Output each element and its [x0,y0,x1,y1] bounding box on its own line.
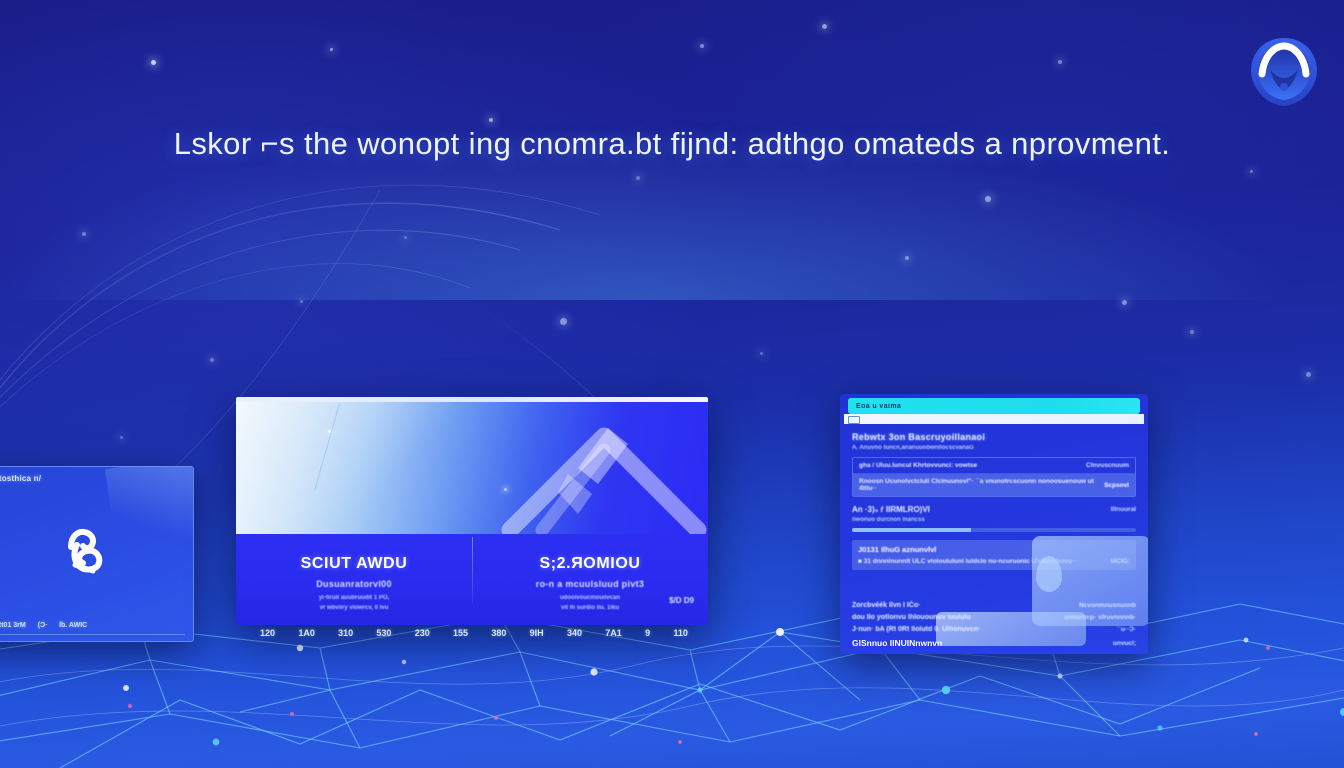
secondary-heading: An ·3)₅ ŕ IIRMLRO)VI [852,505,930,514]
center-window[interactable]: SCIUT AWDU Dusuanratorvl00 yi-firuit auu… [236,397,708,625]
axis-tick: 230 [415,628,430,638]
footer-line-b-left: GlSnnuo IlNUINnwnvn [852,638,942,648]
axis-tick-strip: 120 1A0 310 530 230 155 380 9IH 340 7A1 … [244,622,704,644]
column-1-meta-2: vr wbvilry vlowrcv, 0 lvu [236,604,472,613]
column-2-subheading: ro-n a mcuulsluud pivt3 [472,579,708,589]
footer-row-right: unnurucp· sfruvnnnnb· [1064,614,1136,621]
right-window-title: Eoa u vaima [856,403,901,410]
axis-tick: 530 [376,628,391,638]
axis-tick: 7A1 [605,628,622,638]
footer-text-3: lb. AWIC [59,622,87,629]
hero-graphic-area [236,402,708,534]
center-corner-label: $/D D9 [669,596,694,605]
section-subtitle: A. Anuvno tuncn,ananuuobwnllocscvanaG [852,445,1136,451]
column-1-meta-1: yi-firuit auubruudit 1 PO, [236,594,472,603]
footer-text-2: (Ɔ∙ [38,622,47,629]
table-row[interactable]: Rnoosn Ucunolvctcluli Clcinuunovl"· ˙˙a … [853,474,1135,496]
axis-tick: 120 [260,628,275,638]
axis-tick: 380 [491,628,506,638]
axis-tick: 310 [338,628,353,638]
table-row[interactable]: gha / Uluu.luncul Khrtovvunci: vowtse Cl… [853,458,1135,474]
progress-bar [852,528,1136,532]
footer-line-a-right: ˙˙u··Ɔ· [1117,626,1137,633]
section-title: Rebwtx 3on Bascruyoillanaoi [852,432,1136,442]
left-window[interactable]: Laoutosthica n/ WV/lRt01 3rM (Ɔ∙ lb. AWI… [0,466,194,642]
data-table: gha / Uluu.luncul Khrtovvunci: vowtse Cl… [852,457,1136,497]
right-window-toolbar[interactable] [844,414,1144,424]
footer-row-left: dou Ilo yotlonvu Ihlouounuv luululu [852,614,971,621]
axis-tick: 9IH [530,628,544,638]
left-window-footer: WV/lRt01 3rM (Ɔ∙ lb. AWIC [0,622,183,629]
left-window-title: Laoutosthica n/ [0,474,185,483]
page-headline: Lskor ⌐s the wonopt ing cnomra.bt fijnd:… [0,126,1344,162]
right-window[interactable]: Eoa u vaima Rebwtx 3on Bascruyoillanaoi … [840,394,1148,654]
lock-shield-mark-icon [0,521,193,583]
table-cell-value: Scpsovl [1104,482,1129,489]
center-column-1: SCIUT AWDU Dusuanratorvl00 yi-firuit auu… [236,555,472,613]
axis-tick: 1A0 [298,628,315,638]
footer-line-b-right: unvucl; [1113,640,1136,647]
axis-tick: 9 [645,628,650,638]
axis-tick: 110 [673,628,688,638]
footer-text-1: WV/lRt01 3rM [0,622,26,629]
footer-line-a-left: J·nun· bA (Rt 0Rt llolutd 0. Ulhonuvcn· [852,626,980,633]
table-cell-label: gha / Uluu.luncul Khrtovvunci: vowtse [859,462,977,469]
axis-tick: 340 [567,628,582,638]
column-1-subheading: Dusuanratorvl00 [236,579,472,589]
column-2-heading: S;2.ЯOMIOU [472,555,708,573]
column-2-meta-2: vit lh surdlo llu. 1lku [472,604,708,613]
secondary-value: Illnuural [1111,506,1136,513]
footer-divider [0,634,185,635]
progress-label: nwonuo durcnon lnancss [852,517,1136,523]
chevron-arrow-graphic [482,410,708,534]
hero-scene: Lskor ⌐s the wonopt ing cnomra.bt fijnd:… [0,0,1344,768]
droplet-icon [1036,556,1062,592]
table-cell-value: Clnvuscnuum [1086,462,1129,469]
column-1-heading: SCIUT AWDU [236,555,472,573]
axis-tick: 155 [453,628,468,638]
toolbar-chip-icon [848,416,860,424]
footer-row-right: Ncvonmnusnunnb [1079,602,1136,609]
left-window-titlebar: Laoutosthica n/ [0,474,185,486]
shield-badge-logo[interactable] [1246,34,1322,110]
footer-row-left: Zorcbvéék Ilvn I IĊo· [852,602,920,609]
table-cell-label: Rnoosn Ucunolvctcluli Clcinuunovl"· ˙˙a … [859,478,1104,492]
right-window-footer: Zorcbvéék Ilvn I IĊo· Ncvonmnusnunnb dou… [852,597,1136,648]
secondary-section: An ·3)₅ ŕ IIRMLRO)VI Illnuural [852,505,1136,514]
right-window-header[interactable]: Eoa u vaima [848,398,1140,414]
